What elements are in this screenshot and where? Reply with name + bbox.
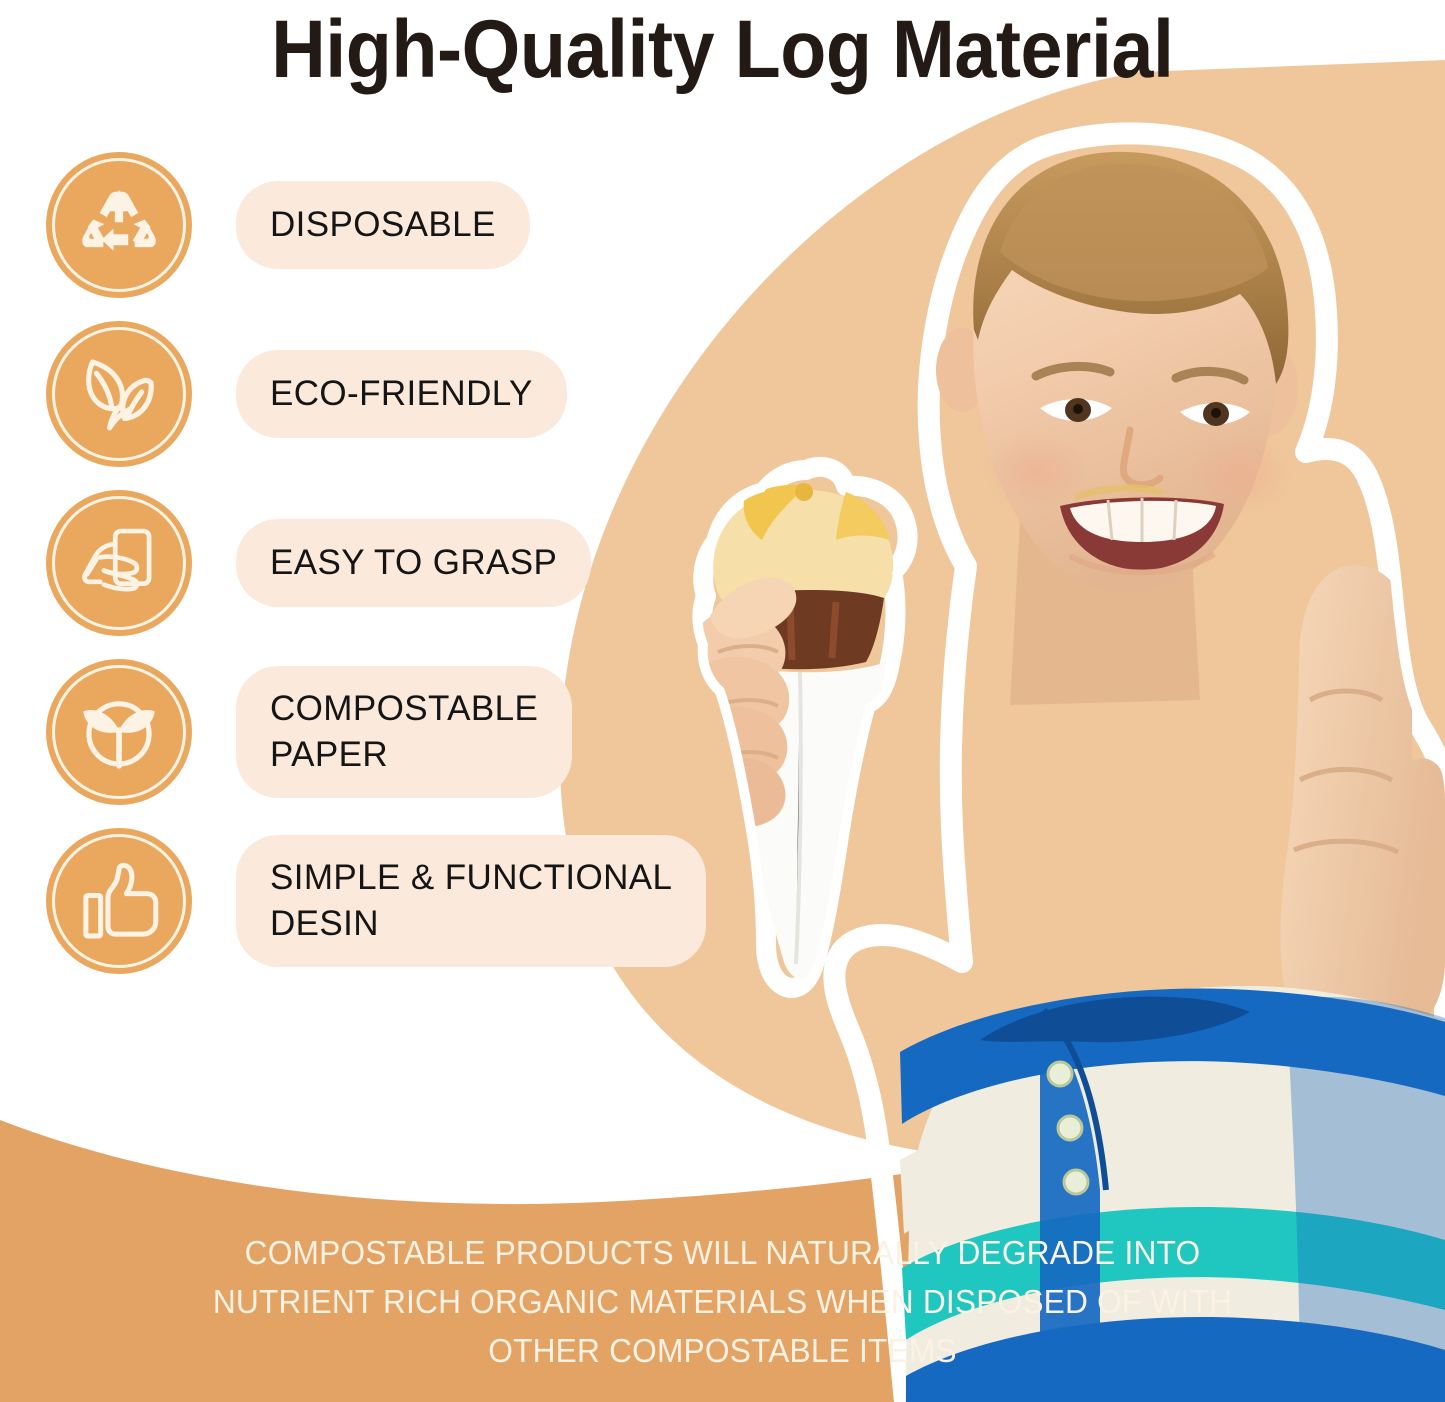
feature-label-compostable-paper: COMPOSTABLE PAPER: [270, 686, 538, 778]
feature-pill-easy-to-grasp: EASY TO GRASP: [236, 519, 591, 607]
feature-item-eco-friendly[interactable]: ECO-FRIENDLY: [46, 321, 746, 467]
feature-item-simple-functional-design[interactable]: SIMPLE & FUNCTIONAL DESIN: [46, 828, 746, 974]
feature-badge-simple-functional-design: [46, 828, 192, 974]
leaves-icon: [72, 347, 166, 441]
recycle-icon: [73, 179, 165, 271]
feature-item-disposable[interactable]: DISPOSABLE: [46, 152, 746, 298]
feature-pill-disposable: DISPOSABLE: [236, 181, 530, 269]
feature-pill-eco-friendly: ECO-FRIENDLY: [236, 350, 567, 438]
feature-list: DISPOSABLE ECO-FRIENDLY: [46, 152, 746, 997]
feature-label-eco-friendly: ECO-FRIENDLY: [270, 371, 533, 417]
feature-badge-disposable: [46, 152, 192, 298]
feature-item-easy-to-grasp[interactable]: EASY TO GRASP: [46, 490, 746, 636]
hand-holding-cup-icon: [72, 516, 166, 610]
feature-label-disposable: DISPOSABLE: [270, 202, 496, 248]
feature-label-easy-to-grasp: EASY TO GRASP: [270, 540, 557, 586]
thumbs-up-icon: [73, 855, 165, 947]
feature-item-compostable-paper[interactable]: COMPOSTABLE PAPER: [46, 659, 746, 805]
feature-badge-easy-to-grasp: [46, 490, 192, 636]
feature-label-simple-functional-design: SIMPLE & FUNCTIONAL DESIN: [270, 855, 672, 947]
footer-caption: COMPOSTABLE PRODUCTS WILL NATURALLY DEGR…: [29, 1228, 1416, 1375]
sprout-circle-icon: [72, 685, 166, 779]
feature-pill-simple-functional-design: SIMPLE & FUNCTIONAL DESIN: [236, 835, 706, 967]
feature-pill-compostable-paper: COMPOSTABLE PAPER: [236, 666, 572, 798]
feature-badge-compostable-paper: [46, 659, 192, 805]
feature-badge-eco-friendly: [46, 321, 192, 467]
